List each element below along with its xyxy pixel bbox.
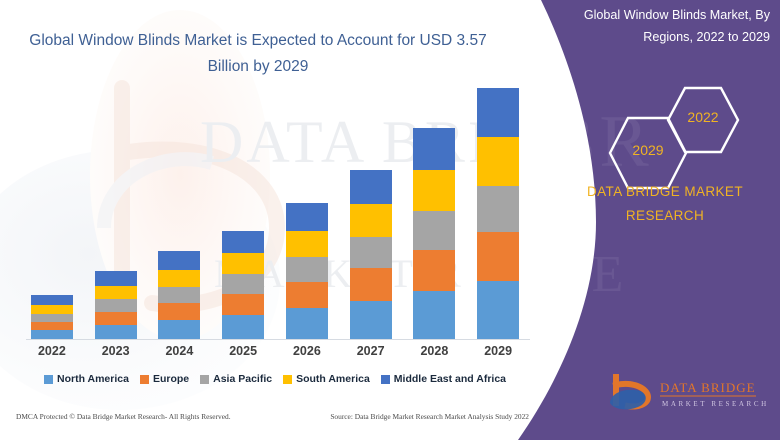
bar-segment xyxy=(31,330,73,339)
x-axis-tick-label: 2026 xyxy=(275,344,339,358)
bar-segment xyxy=(31,295,73,305)
bar-segment xyxy=(31,314,73,322)
legend-swatch-icon xyxy=(140,375,149,384)
x-axis-tick-label: 2027 xyxy=(339,344,403,358)
bar-segment xyxy=(350,301,392,339)
bar-segment xyxy=(222,294,264,315)
panel-brand-line-2: RESEARCH xyxy=(560,204,770,228)
bar-segment xyxy=(477,137,519,186)
bar-segment xyxy=(31,322,73,330)
bar-segment xyxy=(95,312,137,325)
stacked-bar[interactable] xyxy=(95,271,137,339)
chart-title: Global Window Blinds Market is Expected … xyxy=(18,28,498,80)
bar-segment xyxy=(413,211,455,250)
stacked-bar[interactable] xyxy=(350,170,392,339)
x-axis-tick-label: 2028 xyxy=(403,344,467,358)
chart-legend: North AmericaEuropeAsia PacificSouth Ame… xyxy=(20,373,530,385)
svg-text:DATA BRIDGE: DATA BRIDGE xyxy=(660,380,756,395)
bar-column xyxy=(148,95,212,339)
bar-segment xyxy=(413,128,455,170)
legend-swatch-icon xyxy=(283,375,292,384)
legend-item[interactable]: North America xyxy=(44,373,129,385)
bar-segment xyxy=(95,271,137,286)
bar-segment xyxy=(95,299,137,312)
x-axis-tick-label: 2022 xyxy=(20,344,84,358)
panel-title: Global Window Blinds Market, By Regions,… xyxy=(544,4,770,48)
x-axis-line xyxy=(26,339,530,340)
bar-column xyxy=(466,95,530,339)
stacked-bar[interactable] xyxy=(31,295,73,339)
stacked-bar[interactable] xyxy=(158,251,200,339)
bar-column xyxy=(211,95,275,339)
bar-segment xyxy=(222,253,264,274)
bar-segment xyxy=(31,305,73,314)
bar-column xyxy=(339,95,403,339)
panel-brand-line-1: DATA BRIDGE MARKET xyxy=(560,180,770,204)
bar-segment xyxy=(158,270,200,287)
panel-watermark-2: RE xyxy=(548,245,632,304)
bar-segment xyxy=(350,237,392,268)
bar-segment xyxy=(95,286,137,299)
bar-segment xyxy=(158,303,200,320)
bar-segment xyxy=(158,251,200,270)
chart-bars-container xyxy=(20,95,530,339)
legend-swatch-icon xyxy=(44,375,53,384)
x-axis-tick-label: 2025 xyxy=(211,344,275,358)
bar-segment xyxy=(477,88,519,137)
bar-segment xyxy=(286,308,328,339)
bar-segment xyxy=(477,186,519,232)
bar-segment xyxy=(286,231,328,257)
legend-item[interactable]: South America xyxy=(283,373,370,385)
legend-label: North America xyxy=(57,373,129,385)
stacked-bar[interactable] xyxy=(286,203,328,339)
bar-segment xyxy=(158,320,200,339)
bar-segment xyxy=(158,287,200,303)
x-axis-tick-label: 2029 xyxy=(466,344,530,358)
bar-segment xyxy=(477,232,519,281)
bar-segment xyxy=(95,325,137,339)
stacked-bar[interactable] xyxy=(413,128,455,339)
legend-label: Europe xyxy=(153,373,189,385)
legend-label: Asia Pacific xyxy=(213,373,272,385)
bar-segment xyxy=(350,170,392,204)
stacked-bar-chart xyxy=(20,95,530,340)
footer-copyright: DMCA Protected © Data Bridge Market Rese… xyxy=(16,412,231,421)
hexagon-2022: 2022 xyxy=(666,85,740,155)
legend-swatch-icon xyxy=(200,375,209,384)
footer: DMCA Protected © Data Bridge Market Rese… xyxy=(0,412,545,421)
bar-column xyxy=(84,95,148,339)
bar-segment xyxy=(286,282,328,308)
svg-text:MARKET RESEARCH: MARKET RESEARCH xyxy=(662,400,768,408)
hexagon-group: 2029 2022 xyxy=(600,85,770,175)
bar-segment xyxy=(413,250,455,291)
legend-item[interactable]: Middle East and Africa xyxy=(381,373,506,385)
legend-swatch-icon xyxy=(381,375,390,384)
x-axis-tick-label: 2024 xyxy=(148,344,212,358)
bar-segment xyxy=(350,268,392,301)
legend-label: South America xyxy=(296,373,370,385)
bar-segment xyxy=(413,170,455,211)
footer-source: Source: Data Bridge Market Research Mark… xyxy=(330,412,529,421)
bar-segment xyxy=(286,257,328,282)
legend-label: Middle East and Africa xyxy=(394,373,506,385)
infographic-canvas: DATA BRI MARKET R Global Window Blinds M… xyxy=(0,0,780,440)
bar-segment xyxy=(477,281,519,339)
legend-item[interactable]: Asia Pacific xyxy=(200,373,272,385)
bar-column xyxy=(20,95,84,339)
data-bridge-logo: DATA BRIDGE MARKET RESEARCH xyxy=(608,373,768,415)
bar-segment xyxy=(222,274,264,294)
x-axis-tick-label: 2023 xyxy=(84,344,148,358)
bar-segment xyxy=(222,315,264,339)
stacked-bar[interactable] xyxy=(477,88,519,339)
x-axis-labels: 20222023202420252026202720282029 xyxy=(20,344,530,358)
bar-column xyxy=(403,95,467,339)
stacked-bar[interactable] xyxy=(222,231,264,339)
hexagon-2022-label: 2022 xyxy=(666,109,740,125)
bar-segment xyxy=(350,204,392,237)
bar-column xyxy=(275,95,339,339)
bar-segment xyxy=(286,203,328,231)
bar-segment xyxy=(413,291,455,339)
bar-segment xyxy=(222,231,264,253)
legend-item[interactable]: Europe xyxy=(140,373,189,385)
panel-brand-text: DATA BRIDGE MARKET RESEARCH xyxy=(560,180,770,228)
